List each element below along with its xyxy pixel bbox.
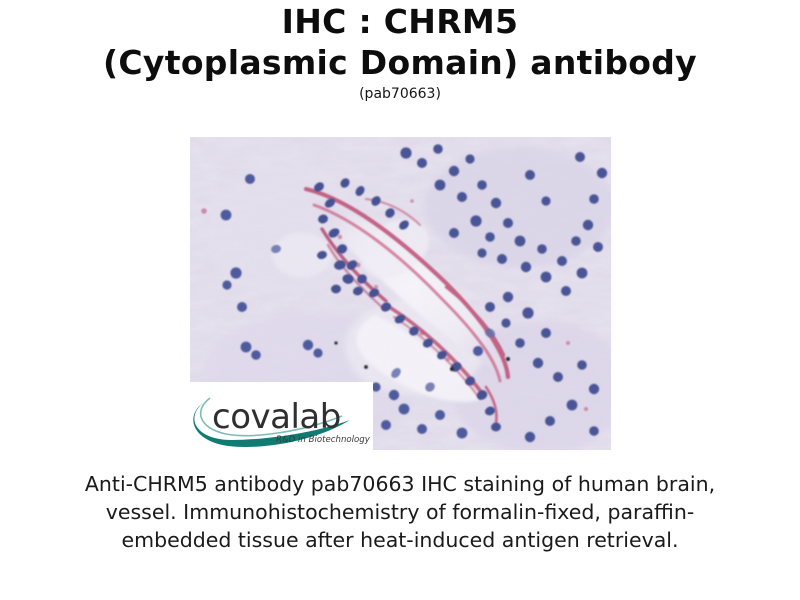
page-title: IHC : CHRM5 (Cytoplasmic Domain) antibod… [0,2,800,102]
covalab-logo-graphic: covalab R&D in Biotechnology [190,382,373,450]
ihc-micrograph: covalab R&D in Biotechnology [190,137,611,450]
figure-caption: Anti-CHRM5 antibody pab70663 IHC stainin… [70,470,730,554]
logo-wordmark: covalab [212,397,341,437]
title-line-secondary: (Cytoplasmic Domain) antibody [0,43,800,83]
catalog-number: (pab70663) [0,86,800,102]
title-line-primary: IHC : CHRM5 [0,2,800,42]
covalab-logo: covalab R&D in Biotechnology [190,382,373,450]
logo-tagline: R&D in Biotechnology [276,435,371,445]
